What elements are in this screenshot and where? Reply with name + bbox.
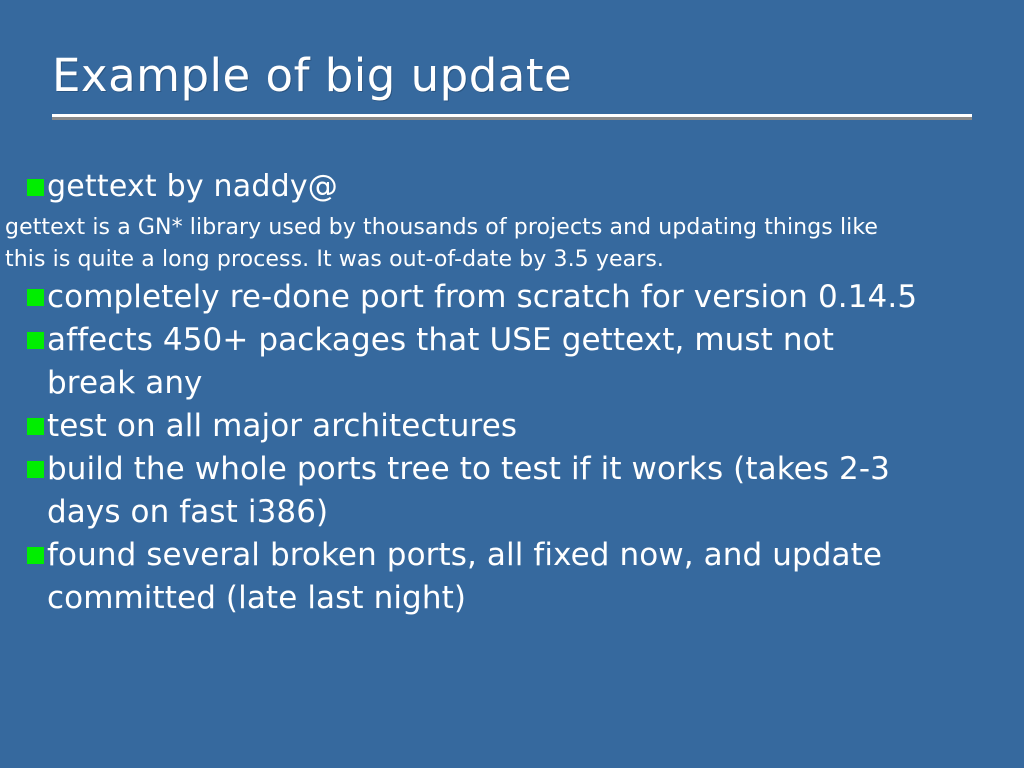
square-bullet-icon: [27, 332, 44, 349]
list-item: test on all major architectures: [0, 405, 927, 448]
title-underline-rule: [52, 114, 972, 117]
list-item: affects 450+ packages that USE gettext, …: [0, 319, 927, 405]
presentation-slide: Example of big update gettext by naddy@ …: [0, 0, 1024, 768]
bullet-label: test on all major architectures: [47, 405, 927, 448]
title-block: Example of big update: [52, 48, 972, 104]
slide-body: gettext by naddy@ gettext is a GN* libra…: [0, 168, 1024, 620]
square-bullet-icon: [27, 418, 44, 435]
bullet-label: completely re-done port from scratch for…: [47, 276, 927, 319]
square-bullet-icon: [27, 547, 44, 564]
bullet-label: build the whole ports tree to test if it…: [47, 448, 927, 534]
bullet-label: found several broken ports, all fixed no…: [47, 534, 927, 620]
list-item: completely re-done port from scratch for…: [0, 276, 927, 319]
lead-bullet-list: gettext by naddy@: [0, 168, 1024, 206]
note-paragraph: gettext is a GN* library used by thousan…: [5, 212, 905, 276]
page-title: Example of big update: [52, 48, 972, 104]
bullet-label: gettext by naddy@: [47, 168, 1024, 206]
main-bullet-list: completely re-done port from scratch for…: [0, 276, 1024, 620]
bullet-label: affects 450+ packages that USE gettext, …: [47, 319, 927, 405]
square-bullet-icon: [27, 461, 44, 478]
list-item: found several broken ports, all fixed no…: [0, 534, 927, 620]
list-item: build the whole ports tree to test if it…: [0, 448, 927, 534]
square-bullet-icon: [27, 179, 44, 196]
square-bullet-icon: [27, 289, 44, 306]
list-item: gettext by naddy@: [0, 168, 1024, 206]
